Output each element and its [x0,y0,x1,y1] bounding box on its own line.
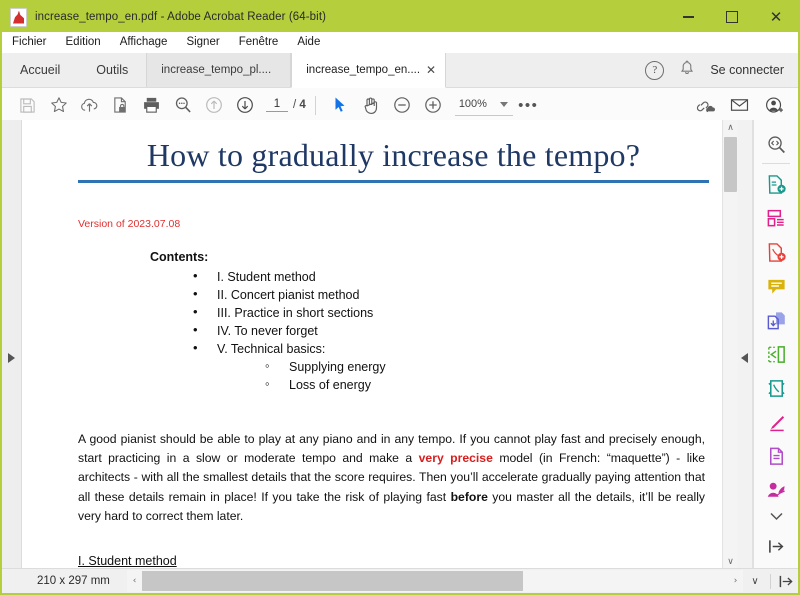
close-button[interactable]: ✕ [754,2,798,32]
next-page-button[interactable] [229,90,260,120]
document-viewport[interactable]: How to gradually increase the tempo? Ver… [22,120,738,569]
share-link-button[interactable] [689,90,720,120]
section-heading: I. Student method [78,554,709,568]
pdf-page: How to gradually increase the tempo? Ver… [22,120,723,569]
compress-pdf-icon[interactable] [758,337,794,371]
rail-bottom-group [754,529,798,563]
previous-page-button[interactable] [198,90,229,120]
table-of-contents: I. Student method II. Concert pianist me… [78,268,709,394]
toc-sublabel: Supplying energy [289,360,386,374]
document-tab-1[interactable]: increase_tempo_pl.... [146,53,291,87]
hand-pan-icon [362,96,380,115]
show-more-tools-button[interactable] [758,507,794,525]
list-item: III. Practice in short sections [193,304,709,322]
minimize-button[interactable] [666,2,710,32]
page-total-label: / 4 [293,99,306,111]
intro-paragraph: A good pianist should be able to play at… [78,430,705,527]
request-signature-icon[interactable] [758,473,794,507]
list-item: I. Student method [193,268,709,286]
document-tab-2[interactable]: increase_tempo_en.... ✕ [291,53,446,88]
menu-fenetre[interactable]: Fenêtre [238,35,280,49]
status-divider [770,574,771,589]
horizontal-scroll-track[interactable] [142,570,728,592]
contents-heading: Contents: [150,250,709,264]
arrow-down-circle-icon [236,96,254,114]
page-navigation: / 4 [266,98,306,112]
left-navigation-pane[interactable] [2,120,22,569]
page-title: How to gradually increase the tempo? [78,137,709,174]
horizontal-scrollbar[interactable]: ‹ › [127,570,743,592]
comment-icon[interactable] [758,269,794,303]
list-item: II. Concert pianist method [193,286,709,304]
search-text-icon[interactable] [758,127,794,161]
toc-sublabel: Loss of energy [289,378,371,392]
question-mark-icon[interactable]: ? [645,61,664,80]
menu-signer[interactable]: Signer [185,35,220,49]
highlighted-phrase: very precise [419,451,493,465]
menubar: Fichier Edition Affichage Signer Fenêtre… [2,32,798,53]
protect-document-button[interactable] [105,90,136,120]
pdf-document-icon [10,8,27,27]
more-tools-button[interactable]: ••• [513,90,544,120]
toc-label: IV. To never forget [217,324,318,338]
scroll-right-button[interactable]: › [728,570,743,592]
arrow-up-circle-icon [205,96,223,114]
add-person-icon [765,96,785,115]
rail-divider [762,163,790,164]
workspace: How to gradually increase the tempo? Ver… [2,120,798,569]
favorite-button[interactable] [43,90,74,120]
select-tool-button[interactable] [325,90,356,120]
zoom-level-select[interactable]: 100% [455,95,513,116]
list-item: V. Technical basics: Supplying energy Lo… [193,340,709,394]
share-cloud-link-icon [695,96,715,114]
tabstrip-right-group: ? Se connecter [645,53,798,87]
printer-icon [142,96,161,114]
document-tab-label: increase_tempo_en.... [306,64,420,76]
fill-and-sign-icon[interactable] [758,439,794,473]
view-mode-toggle[interactable]: ∨ [743,570,767,592]
combine-files-icon[interactable] [758,303,794,337]
toc-label: II. Concert pianist method [217,288,359,302]
list-item: IV. To never forget [193,322,709,340]
list-item: Supplying energy [265,358,709,376]
scroll-down-button[interactable]: ∨ [723,554,738,569]
more-options-dots-icon: ••• [518,101,538,110]
edit-pdf-icon[interactable] [758,405,794,439]
zoom-out-button[interactable] [387,90,418,120]
toolbar-right-group [689,88,790,122]
table-of-contents-sublist: Supplying energy Loss of energy [217,358,709,394]
emphasized-word: before [451,490,488,504]
maximize-button[interactable] [710,2,754,32]
tab-outils[interactable]: Outils [78,53,146,87]
page-number-input[interactable] [266,98,288,112]
star-favorite-icon [50,96,68,114]
zoom-level-value: 100% [459,98,492,110]
version-label: Version of 2023.07.08 [78,218,709,230]
window-controls: ✕ [666,2,798,32]
collapse-panel-icon[interactable] [758,529,794,563]
vertical-scrollbar[interactable]: ∧ ∨ [722,120,738,569]
find-button[interactable] [167,90,198,120]
email-button[interactable] [724,90,755,120]
right-pane-toggle[interactable] [738,120,753,569]
vertical-scroll-thumb[interactable] [724,137,737,192]
chevron-down-icon [770,512,783,521]
protect-pdf-icon[interactable] [758,371,794,405]
create-pdf-icon[interactable] [758,167,794,201]
toc-label: V. Technical basics: [217,342,325,356]
toc-label: I. Student method [217,270,316,284]
export-pdf-icon[interactable] [758,235,794,269]
expand-left-pane-arrow-icon[interactable] [8,353,15,363]
tab-strip: Accueil Outils increase_tempo_pl.... inc… [2,53,798,88]
envelope-mail-icon [730,97,749,113]
toolbar-divider [315,96,316,115]
cloud-upload-button[interactable] [74,90,105,120]
window-titlebar: increase_tempo_en.pdf - Adobe Acrobat Re… [2,2,798,32]
tools-rail [753,120,798,569]
horizontal-scroll-thumb[interactable] [142,571,523,591]
cloud-upload-icon [80,96,99,114]
zoom-in-plus-icon [424,96,442,114]
sign-in-button[interactable]: Se connecter [710,63,784,77]
window-title: increase_tempo_en.pdf - Adobe Acrobat Re… [35,11,326,23]
menu-edition[interactable]: Edition [65,35,102,49]
minimize-icon [683,16,694,18]
toc-label: III. Practice in short sections [217,306,373,320]
document-tab-label: increase_tempo_pl.... [161,64,281,76]
menu-affichage[interactable]: Affichage [119,35,169,49]
zoom-out-minus-icon [393,96,411,114]
acrobat-reader-window: increase_tempo_en.pdf - Adobe Acrobat Re… [0,0,800,595]
status-bar: 210 x 297 mm ‹ › ∨ [2,568,798,593]
hand-tool-button[interactable] [356,90,387,120]
scroll-up-button[interactable]: ∧ [723,120,738,135]
page-size-label: 210 x 297 mm [2,575,127,587]
tab-accueil[interactable]: Accueil [2,53,78,87]
status-right-group: ∨ [743,570,798,592]
chevron-down-icon [500,102,508,107]
menu-fichier[interactable]: Fichier [11,35,48,49]
save-floppy-icon [19,97,36,114]
cursor-arrow-icon [332,96,348,114]
zoom-in-button[interactable] [418,90,449,120]
print-button[interactable] [136,90,167,120]
close-icon: ✕ [770,10,783,25]
scroll-left-button[interactable]: ‹ [127,570,142,592]
main-toolbar: / 4 100% [2,88,798,123]
organize-pages-icon[interactable] [758,201,794,235]
account-button[interactable] [759,90,790,120]
search-magnifier-icon [174,96,192,114]
notification-bell-icon[interactable] [680,60,694,81]
document-lock-icon [112,96,129,114]
collapse-right-pane-arrow-icon[interactable] [741,353,748,363]
list-item: Loss of energy [265,376,709,394]
title-divider [78,180,709,183]
close-icon[interactable]: ✕ [426,64,436,76]
show-panel-icon[interactable] [774,570,798,592]
save-button[interactable] [12,90,43,120]
maximize-icon [726,11,738,23]
menu-aide[interactable]: Aide [296,35,321,49]
